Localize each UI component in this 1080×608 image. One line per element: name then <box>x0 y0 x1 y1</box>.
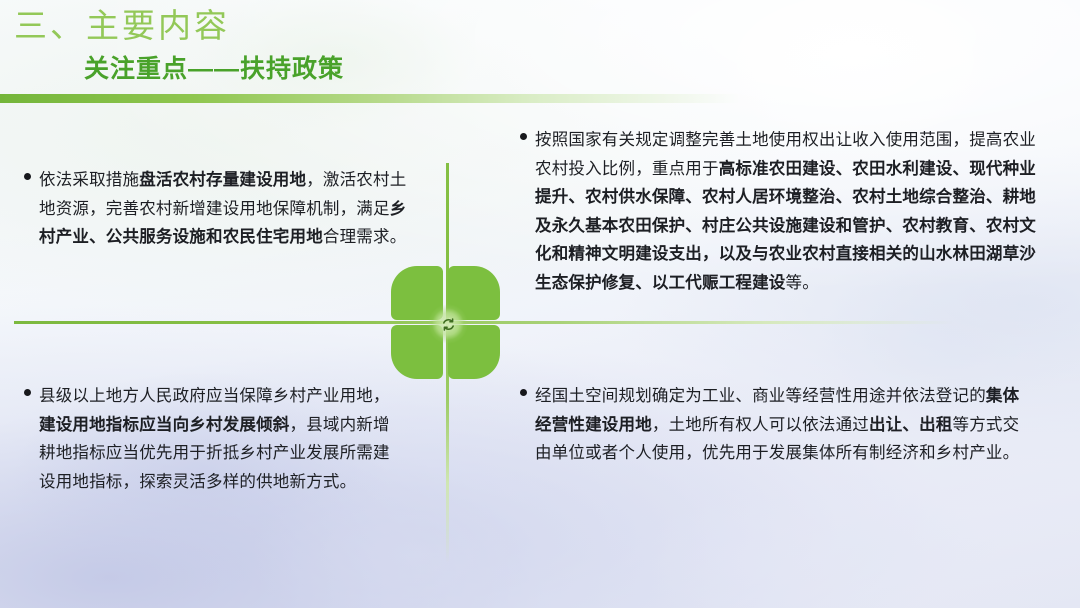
slide-canvas: 三、主要内容 关注重点——扶持政策 依法采取措施盘活农村存量建设用地，激活农村土… <box>0 0 1080 608</box>
paragraph-text: 按照国家有关规定调整完善土地使用权出让收入使用范围，提高农业农村投入比例，重点用… <box>520 126 1038 297</box>
bullet-marker <box>24 389 31 396</box>
emphasis-text: 盘活农村存量建设用地 <box>139 171 306 189</box>
emphasis-text: 高标准农田建设、农田水利建设、现代种业提升、农村供水保障、农村人居环境整治、农村… <box>535 160 1036 292</box>
header-accent-bar <box>0 94 740 103</box>
bullet-marker <box>520 133 527 140</box>
bullet-marker <box>24 173 31 180</box>
emphasis-text: 出让、出租 <box>869 416 953 434</box>
body-text: 等。 <box>786 274 819 292</box>
page-subtitle: 关注重点——扶持政策 <box>84 52 344 86</box>
text-block-bottom-left: 县级以上地方人民政府应当保障乡村产业用地，建设用地指标应当向乡村发展倾斜，县域内… <box>24 382 404 496</box>
emphasis-text: 建设用地指标应当向乡村发展倾斜 <box>39 416 290 434</box>
body-text: 合理需求。 <box>323 228 407 246</box>
text-block-top-left: 依法采取措施盘活农村存量建设用地，激活农村土地资源，完善农村新增建设用地保障机制… <box>24 166 416 252</box>
page-title: 三、主要内容 <box>14 4 230 48</box>
body-text: 县级以上地方人民政府应当保障乡村产业用地， <box>39 387 390 405</box>
body-text: 依法采取措施 <box>39 171 139 189</box>
paragraph-text: 县级以上地方人民政府应当保障乡村产业用地，建设用地指标应当向乡村发展倾斜，县域内… <box>24 382 404 496</box>
body-text: ，土地所有权人可以依法通过 <box>652 416 869 434</box>
bullet-marker <box>520 389 527 396</box>
body-text: 经国土空间规划确定为工业、商业等经营性用途并依法登记的 <box>535 387 986 405</box>
paragraph-text: 经国土空间规划确定为工业、商业等经营性用途并依法登记的集体经营性建设用地，土地所… <box>520 382 1032 468</box>
text-block-bottom-right: 经国土空间规划确定为工业、商业等经营性用途并依法登记的集体经营性建设用地，土地所… <box>520 382 1032 468</box>
text-block-top-right: 按照国家有关规定调整完善土地使用权出让收入使用范围，提高农业农村投入比例，重点用… <box>520 126 1038 297</box>
recycle-icon <box>428 304 468 344</box>
paragraph-text: 依法采取措施盘活农村存量建设用地，激活农村土地资源，完善农村新增建设用地保障机制… <box>24 166 416 252</box>
four-leaf-clover-icon <box>391 266 505 382</box>
